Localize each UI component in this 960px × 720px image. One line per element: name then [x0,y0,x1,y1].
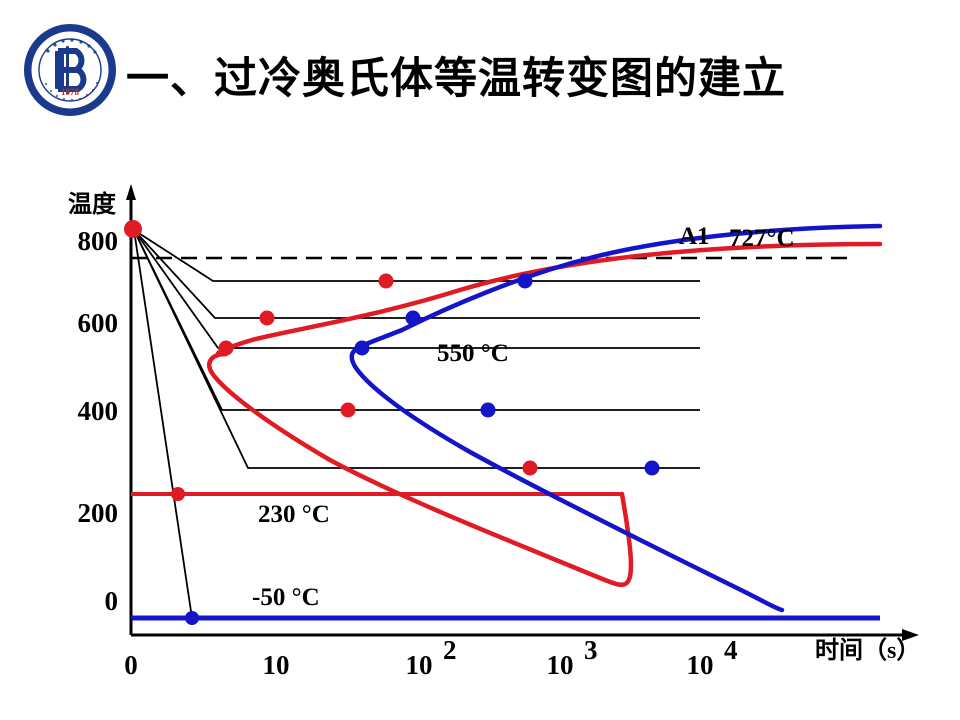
y-tick-label: 400 [78,396,119,426]
y-tick-label: 800 [78,226,119,256]
ttt-diagram-svg: 温度 时间（s） 800 600 400 200 0 0 10 10 2 10 [0,140,960,720]
a1-annotation: A1 [679,223,710,250]
a1-temperature-label: 727°C [729,225,795,252]
start-marker [379,274,394,289]
start-marker [219,341,234,356]
mf-marker [185,611,199,625]
x-tick-base: 10 [687,650,714,680]
x-axis-title: 时间（s） [815,637,920,664]
ttt-diagram: 温度 时间（s） 800 600 400 200 0 0 10 10 2 10 [0,140,960,720]
x-tick-label: 10 4 [687,635,738,680]
cooling-line [134,230,700,318]
x-tick-label: 10 [263,650,290,680]
start-marker [341,403,356,418]
university-seal-icon: 1978 [22,22,118,118]
axes [126,184,919,641]
finish-marker [406,311,421,326]
ms-marker [171,487,185,501]
transformation-start-curve [209,244,880,585]
y-axis-title: 温度 [68,190,117,218]
y-tick-labels: 800 600 400 200 0 [78,226,119,616]
university-logo: 1978 [22,22,118,118]
y-tick-label: 600 [78,308,119,338]
x-tick-label: 10 2 [406,635,457,680]
x-tick-exponent: 3 [584,635,598,665]
ms-temperature-label: 230 °C [258,501,330,528]
finish-marker [355,341,370,356]
page-title: 一、过冷奥氏体等温转变图的建立 [126,58,786,101]
slide-header: 1978 一、过冷奥氏体等温转变图的建立 [0,0,960,140]
x-tick-label: 0 [124,650,138,680]
slide-root: 1978 一、过冷奥氏体等温转变图的建立 温度 时间（s） 800 [0,0,960,720]
finish-marker [645,461,660,476]
transformation-finish-curve [352,226,880,610]
logo-year: 1978 [61,87,80,97]
y-axis-arrow [126,184,136,200]
x-tick-base: 10 [406,650,433,680]
start-marker [523,461,538,476]
x-tick-base: 10 [547,650,574,680]
nose-temperature-label: 550 °C [437,340,509,367]
finish-marker [518,274,533,289]
origin-marker [124,220,142,238]
start-marker [260,311,275,326]
a1-label: A1 [679,223,710,250]
y-tick-label: 0 [105,586,119,616]
x-tick-exponent: 4 [724,635,738,665]
finish-marker [481,403,496,418]
mf-temperature-label: -50 °C [252,584,320,611]
y-tick-label: 200 [78,498,119,528]
x-tick-label: 10 3 [547,635,598,680]
x-tick-labels: 0 10 10 2 10 3 10 4 [124,635,737,680]
cooling-line [134,230,700,348]
x-tick-exponent: 2 [443,635,457,665]
cooling-line [134,230,700,281]
cooling-curves-group [134,230,700,618]
